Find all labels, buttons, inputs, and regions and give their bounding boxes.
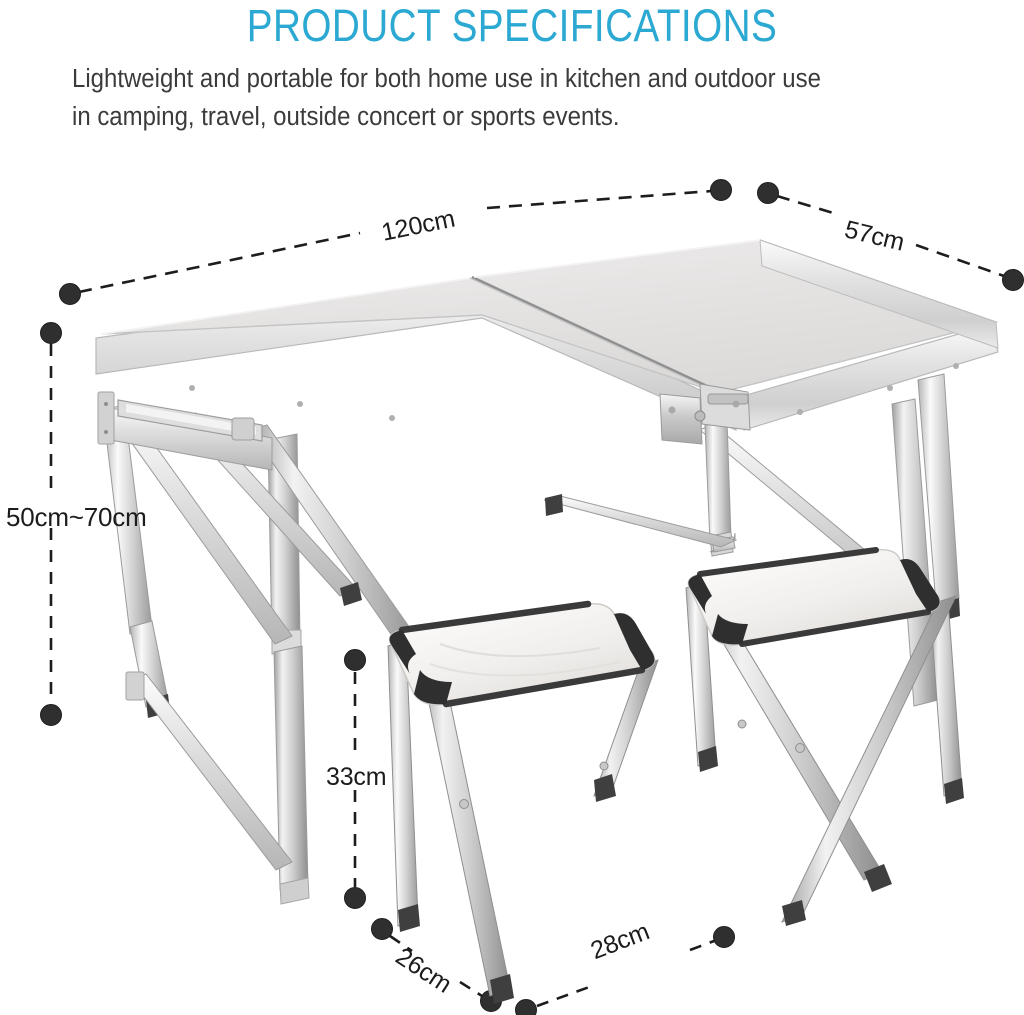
dim-label-table-height: 50cm~70cm <box>6 502 147 533</box>
dim-label-stool-height: 33cm <box>326 763 386 792</box>
stool-rear <box>686 550 964 926</box>
product-specification-image: PRODUCT SPECIFICATIONS Lightweight and p… <box>0 0 1024 1015</box>
product-illustration <box>0 0 1024 1015</box>
